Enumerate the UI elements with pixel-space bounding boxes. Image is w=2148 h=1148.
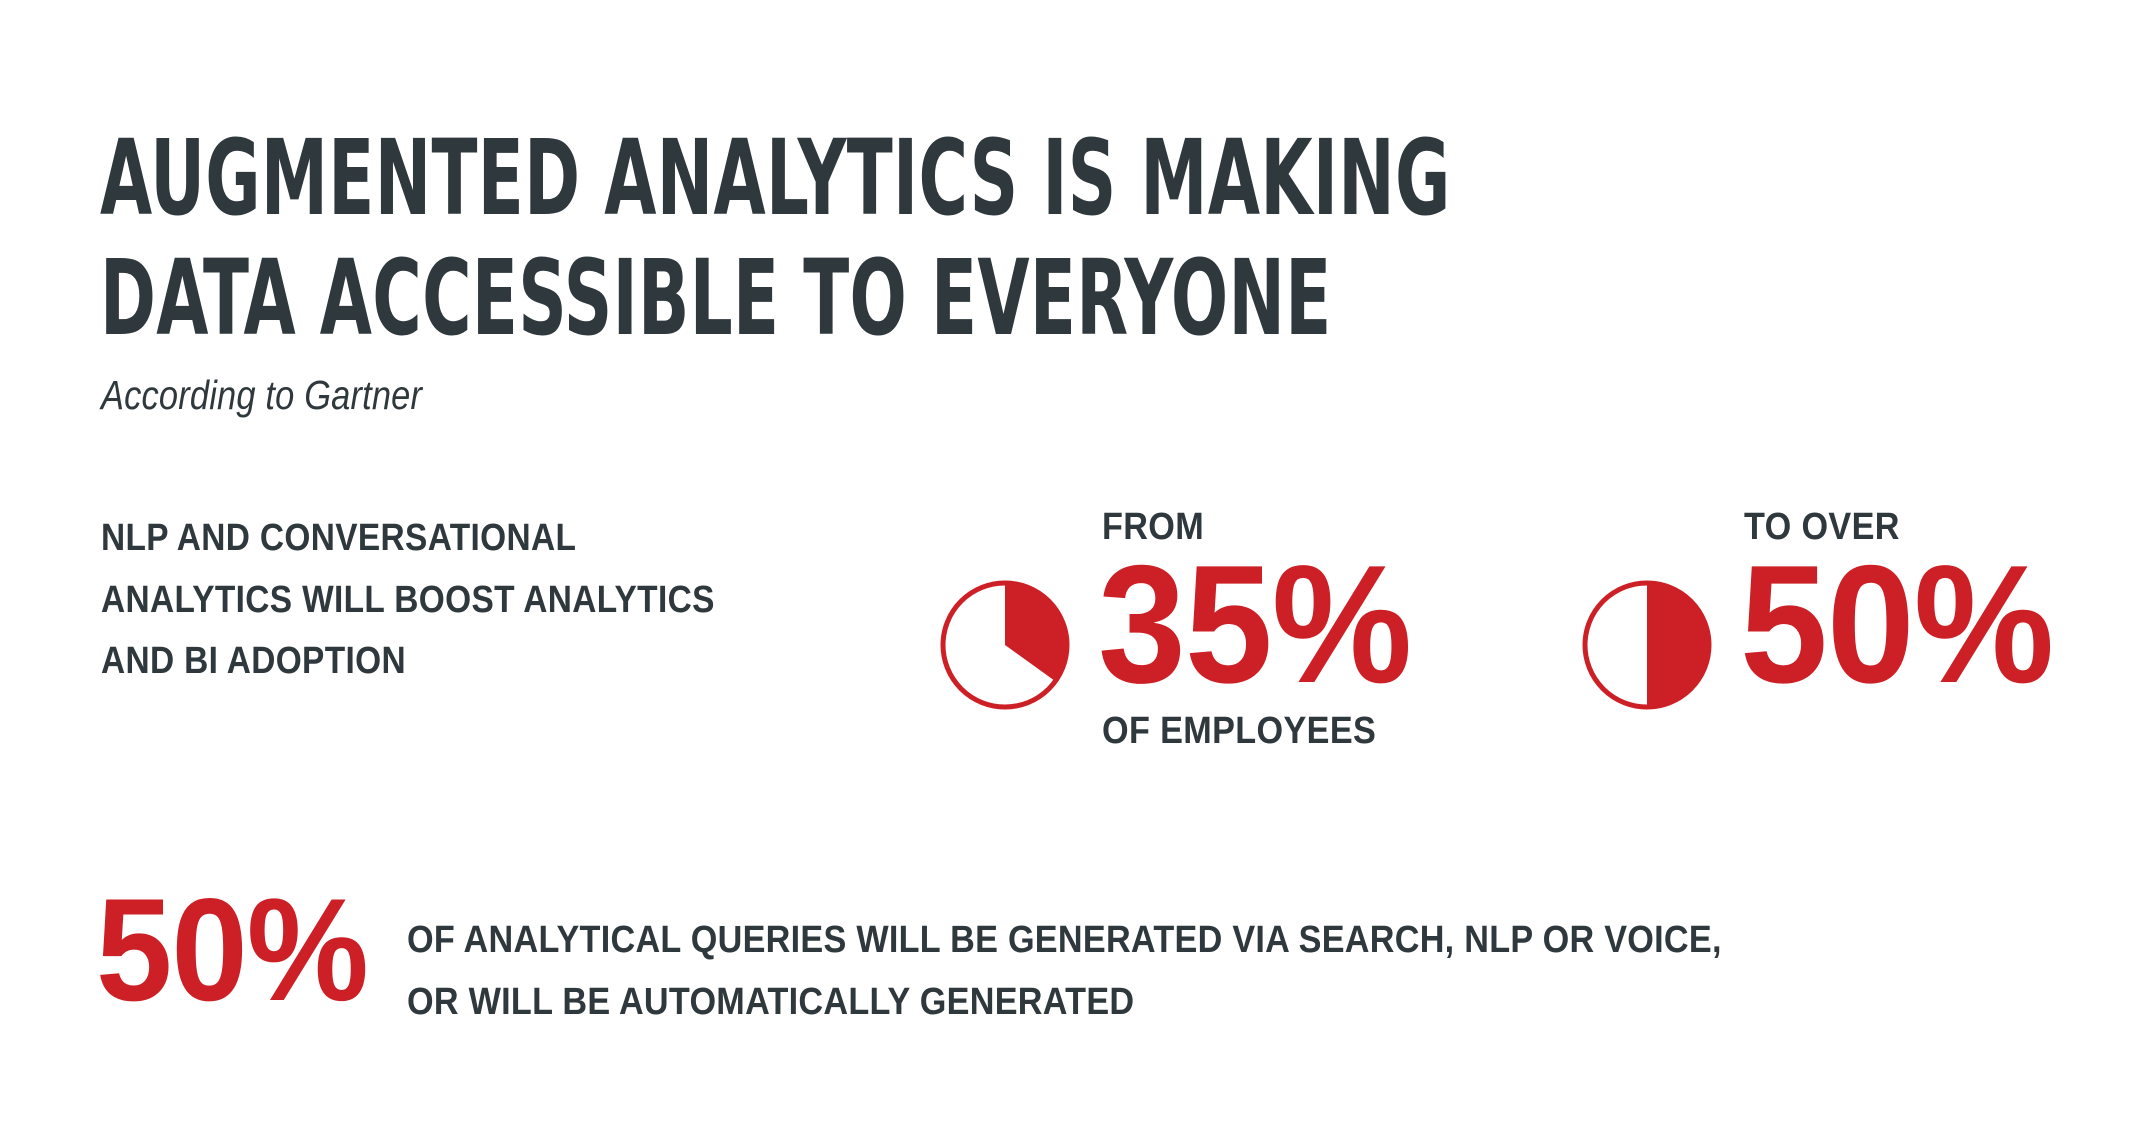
- stat-block-to-over-50: To over 50%: [1580, 500, 2073, 712]
- stat-value: 35%: [1098, 552, 1411, 696]
- stat-value: 50%: [1740, 552, 2053, 696]
- stat-label-bottom: of employees: [1102, 712, 1376, 750]
- stat-text-group: From 35% of employees: [1098, 500, 1431, 750]
- stat-row: To over 50%: [1580, 500, 2073, 712]
- bottom-stat-block: 50% of analytical queries will be genera…: [96, 886, 1868, 1033]
- stat-block-from-35: From 35% of employees: [938, 500, 1431, 750]
- bottom-stat-text: of analytical queries will be generated …: [407, 910, 1722, 1033]
- infographic-slide: Augmented analytics is making data acces…: [0, 0, 2148, 1148]
- pie-chart-50-percent: [1580, 578, 1714, 712]
- source-attribution: According to Gartner: [101, 372, 422, 419]
- stat-row: From 35% of employees: [938, 500, 1431, 750]
- left-statement-text: NLP and conversational analytics will bo…: [101, 508, 823, 693]
- pie-chart-50-icon: [1580, 578, 1714, 712]
- pie-chart-35-percent: [938, 578, 1072, 712]
- page-title: Augmented analytics is making data acces…: [100, 118, 1511, 359]
- pie-chart-35-icon: [938, 578, 1072, 712]
- bottom-stat-value: 50%: [96, 886, 368, 1014]
- stat-text-group: To over 50%: [1740, 500, 2073, 696]
